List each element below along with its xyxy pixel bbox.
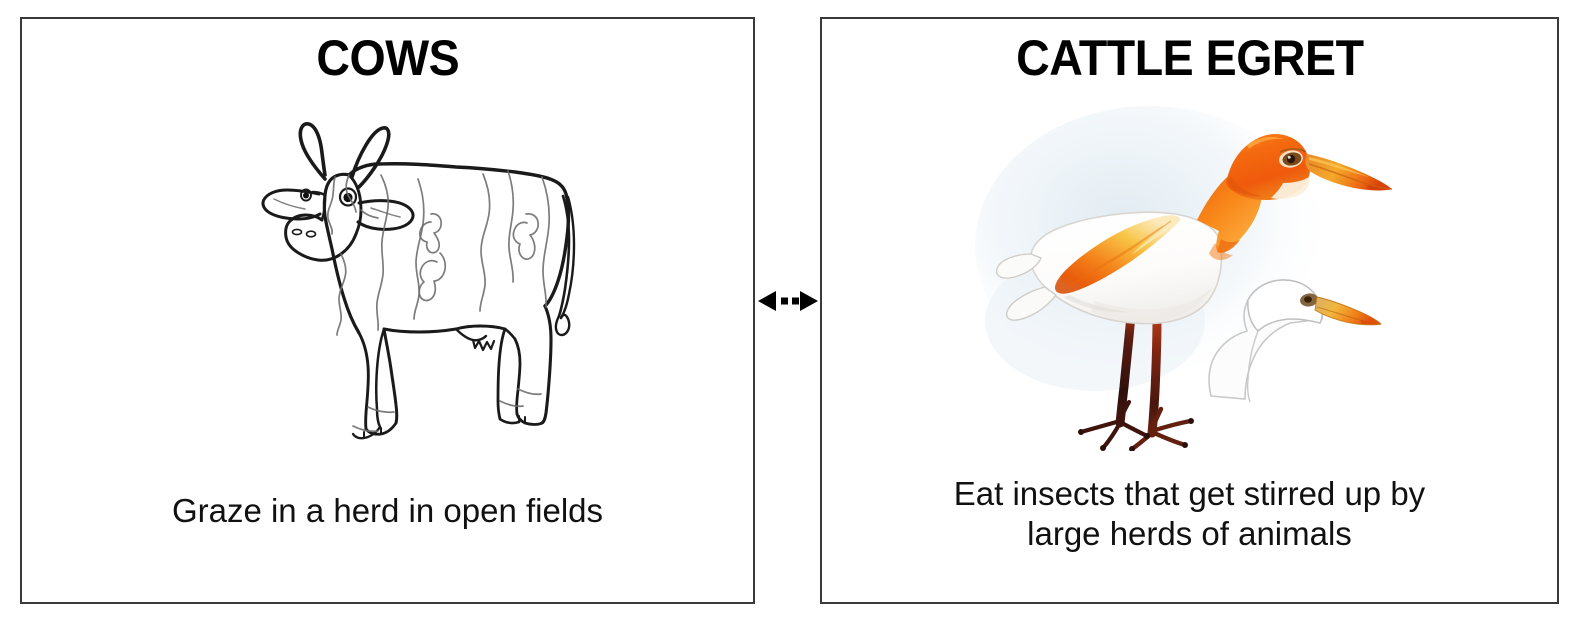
- panel-cows[interactable]: COWS: [20, 17, 755, 604]
- panel-title-cows: COWS: [316, 33, 459, 83]
- panel-title-cattle-egret: CATTLE EGRET: [1016, 33, 1363, 83]
- caption-line-2: large herds of animals: [1027, 515, 1352, 552]
- panel-cattle-egret[interactable]: CATTLE EGRET: [820, 17, 1559, 604]
- figure-container-cows: [22, 83, 753, 446]
- panel-caption-cattle-egret: Eat insects that get stirred up by large…: [851, 474, 1527, 555]
- caption-line-1: Eat insects that get stirred up by: [954, 475, 1425, 512]
- double-headed-dashed-arrow-icon: [756, 286, 820, 316]
- cow-line-drawing-icon: [178, 101, 598, 446]
- panel-caption-cows: Graze in a herd in open fields: [51, 491, 724, 531]
- figure-container-cattle-egret: [822, 83, 1557, 451]
- diagram-canvas: COWS: [0, 0, 1570, 622]
- cattle-egret-illustration-icon: [975, 91, 1405, 451]
